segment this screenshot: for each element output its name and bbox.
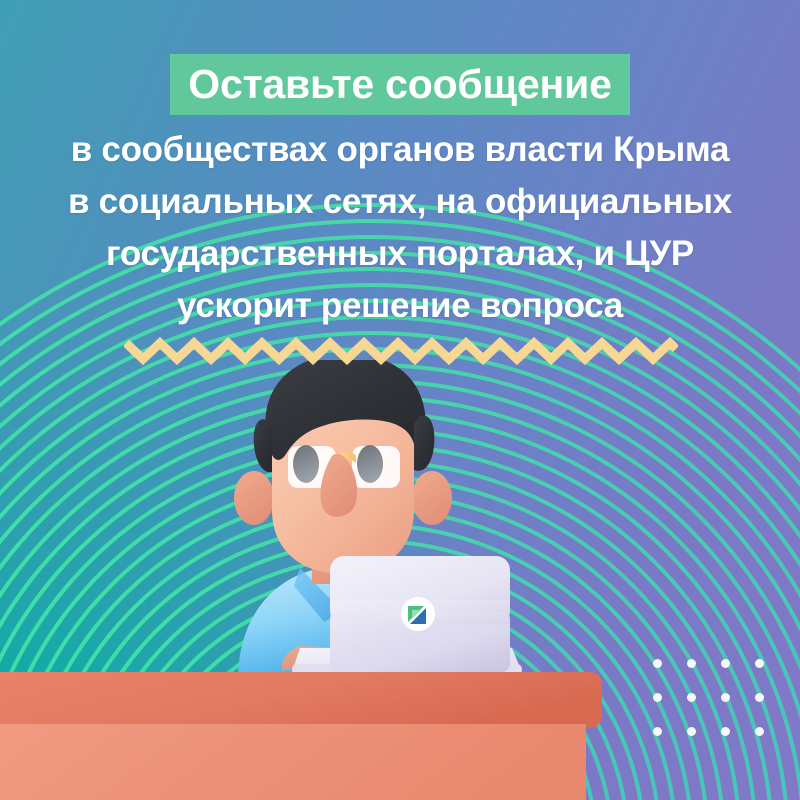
grid-dot xyxy=(653,727,662,736)
hair-sideburn-left xyxy=(254,419,272,472)
eye-left xyxy=(293,445,319,483)
headline-highlight-wrap: Оставьте сообщение xyxy=(0,0,800,115)
grid-dot xyxy=(755,659,764,668)
headline-line-1: в сообществах органов власти Крыма xyxy=(0,124,800,176)
desk-top xyxy=(0,672,602,728)
poster-canvas: Оставьте сообщение в сообществах органов… xyxy=(0,0,800,800)
grid-dot xyxy=(687,727,696,736)
desk-body xyxy=(0,724,586,800)
grid-dot xyxy=(687,693,696,702)
grid-dot xyxy=(653,659,662,668)
laptop-logo xyxy=(401,597,435,631)
headline-line-2: в социальных сетях, на официальных xyxy=(0,176,800,228)
ear-right xyxy=(412,471,452,525)
hair-sideburn-right xyxy=(414,415,434,471)
grid-dot xyxy=(687,659,696,668)
dot-grid-decoration xyxy=(640,646,776,748)
headline-highlight: Оставьте сообщение xyxy=(170,54,629,115)
grid-dot xyxy=(721,727,730,736)
eye-right xyxy=(357,445,383,483)
grid-dot xyxy=(755,693,764,702)
grid-dot xyxy=(721,659,730,668)
zigzag-divider-icon xyxy=(124,333,678,367)
grid-dot xyxy=(721,693,730,702)
headline-line-3: государственных порталах, и ЦУР xyxy=(0,228,800,280)
headline-line-4: ускорит решение вопроса xyxy=(0,280,800,332)
grid-dot xyxy=(755,727,764,736)
headline-block: Оставьте сообщение в сообществах органов… xyxy=(0,0,800,332)
headline-lines: в сообществах органов власти Крыма в соц… xyxy=(0,124,800,332)
ear-left xyxy=(234,471,274,525)
grid-dot xyxy=(653,693,662,702)
